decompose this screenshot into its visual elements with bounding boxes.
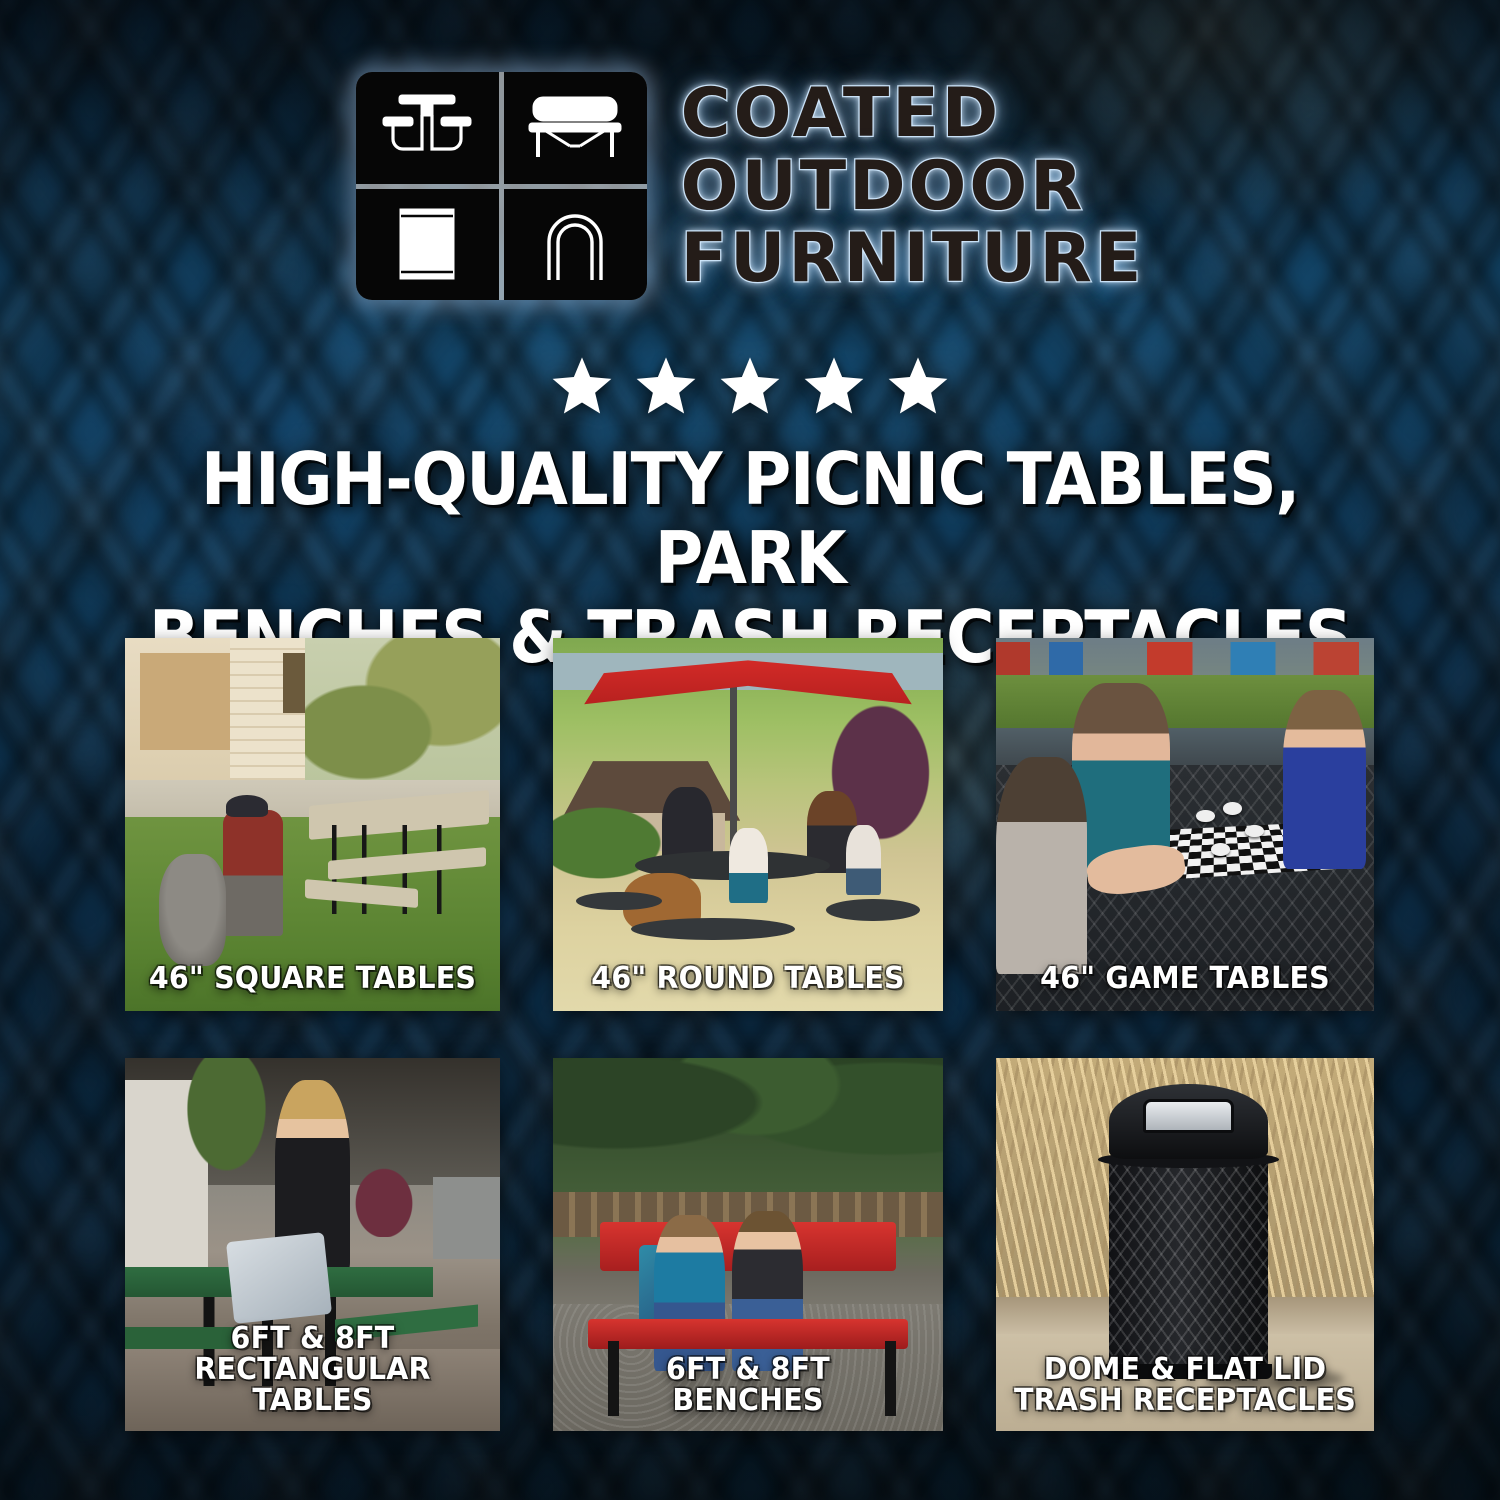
product-caption: 46" SQUARE TABLES bbox=[134, 964, 490, 995]
caption-line-1: 46" GAME TABLES bbox=[1005, 964, 1364, 995]
star-icon bbox=[717, 355, 783, 418]
caption-line-1: 6FT & 8FT bbox=[563, 1355, 934, 1386]
bench-icon bbox=[504, 72, 647, 184]
logo-icon-grid bbox=[356, 72, 647, 300]
product-tile-benches[interactable]: 6FT & 8FT BENCHES bbox=[553, 1058, 943, 1431]
product-tile-game-tables[interactable]: 46" GAME TABLES bbox=[996, 638, 1374, 1011]
product-caption: 46" GAME TABLES bbox=[1005, 964, 1364, 995]
headline-line-1: HIGH-QUALITY PICNIC TABLES, PARK bbox=[115, 440, 1385, 598]
product-caption: 6FT & 8FT RECTANGULAR TABLES bbox=[134, 1324, 490, 1417]
caption-line-1: 46" ROUND TABLES bbox=[563, 964, 934, 995]
picnic-table-icon bbox=[356, 72, 499, 184]
brand-name-line-2: OUTDOOR bbox=[681, 152, 1145, 223]
bike-rack-icon bbox=[504, 189, 647, 301]
product-photo-round-tables bbox=[553, 638, 943, 1011]
brand-name-line-1: COATED bbox=[681, 79, 1145, 150]
product-photo-square-tables bbox=[125, 638, 500, 1011]
product-tile-trash-receptacles[interactable]: DOME & FLAT LID TRASH RECEPTACLES bbox=[996, 1058, 1374, 1431]
product-photo-game-tables bbox=[996, 638, 1374, 1011]
product-tile-rectangular-tables[interactable]: 6FT & 8FT RECTANGULAR TABLES bbox=[125, 1058, 500, 1431]
product-caption: 46" ROUND TABLES bbox=[563, 964, 934, 995]
caption-line-2: RECTANGULAR TABLES bbox=[134, 1355, 490, 1417]
product-tile-square-tables[interactable]: 46" SQUARE TABLES bbox=[125, 638, 500, 1011]
star-icon bbox=[549, 355, 615, 418]
caption-line-2: TRASH RECEPTACLES bbox=[1005, 1386, 1364, 1417]
star-rating bbox=[0, 355, 1500, 418]
caption-line-1: 46" SQUARE TABLES bbox=[134, 964, 490, 995]
brand-logo[interactable]: COATED OUTDOOR FURNITURE bbox=[0, 72, 1500, 300]
star-icon bbox=[801, 355, 867, 418]
brand-wordmark: COATED OUTDOOR FURNITURE bbox=[681, 77, 1145, 295]
trash-receptacle-icon bbox=[356, 189, 499, 301]
star-icon bbox=[633, 355, 699, 418]
promo-banner: COATED OUTDOOR FURNITURE HIGH-QUALITY PI… bbox=[0, 0, 1500, 1500]
product-grid: 46" SQUARE TABLES 46" ROUND TABLES bbox=[125, 638, 1375, 1431]
product-caption: DOME & FLAT LID TRASH RECEPTACLES bbox=[1005, 1355, 1364, 1417]
caption-line-2: BENCHES bbox=[563, 1386, 934, 1417]
product-tile-round-tables[interactable]: 46" ROUND TABLES bbox=[553, 638, 943, 1011]
caption-line-1: DOME & FLAT LID bbox=[1005, 1355, 1364, 1386]
caption-line-1: 6FT & 8FT bbox=[134, 1324, 490, 1355]
brand-name-line-3: FURNITURE bbox=[681, 224, 1145, 295]
star-icon bbox=[885, 355, 951, 418]
product-caption: 6FT & 8FT BENCHES bbox=[563, 1355, 934, 1417]
